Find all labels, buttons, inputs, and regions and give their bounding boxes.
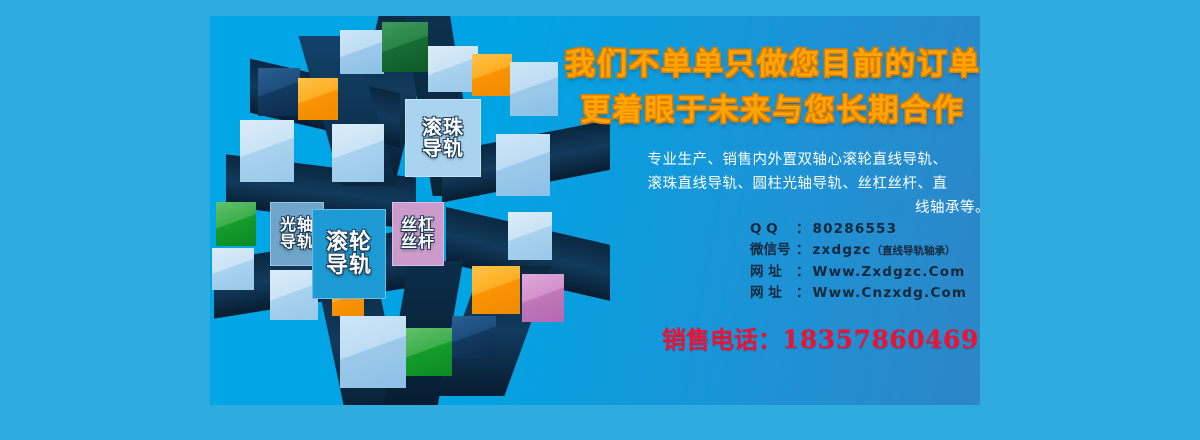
cube-green [406,328,452,376]
blurb-line-3: 线轴承等。 [605,196,980,220]
contact-value-wechat[interactable]: zxdgzc [813,240,872,261]
contact-row-qq: Q Q ： 80286553 [750,219,980,240]
sales-phone-label: 销售电话： [662,326,782,354]
contact-key: 网 址 [750,262,796,283]
contact-row-wechat: 微信号 ： zxdgzc （直线导轨轴承） [750,240,980,262]
contact-note-wechat: （直线导轨轴承） [871,241,955,262]
contact-separator: ： [796,219,810,240]
cube-glass [508,212,552,260]
cube-orange [472,54,512,96]
cube-green [216,202,256,246]
cube-glass [340,30,384,74]
product-label-line: 滚轮 [326,231,372,254]
banner-panel: 滚珠 导轨 光轴 导轨 滚轮 导轨 丝杠 丝杆 我们不单单只做您目前的订单 更着… [210,16,980,405]
headline: 我们不单单只做您目前的订单 更着眼于未来与您长期合作 [565,42,980,134]
contact-separator: ： [796,240,810,261]
product-label-sigang-sigan[interactable]: 丝杠 丝杆 [392,202,444,266]
cube-glass [496,134,550,196]
cube-green [382,22,428,72]
product-label-line: 导轨 [280,234,314,251]
cube-navy [452,316,496,358]
cube-pink [522,274,564,322]
banner-root: 滚珠 导轨 光轴 导轨 滚轮 导轨 丝杠 丝杆 我们不单单只做您目前的订单 更着… [0,0,1200,440]
product-label-line: 导轨 [422,138,464,159]
blurb-line-1: 专业生产、销售内外置双轴心滚轮直线导轨、 [605,148,980,172]
sales-phone[interactable]: 销售电话：18357860469 [662,320,980,355]
cube-glass [510,62,558,116]
cube-glass [340,316,406,388]
contact-separator: ： [796,283,810,304]
contact-value-website-2[interactable]: Www.Cnzxdg.Com [813,283,968,304]
contact-value-website-1[interactable]: Www.Zxdgzc.Com [813,262,966,283]
headline-line-1: 我们不单单只做您目前的订单 [565,42,980,88]
product-label-gunzhu-daogui[interactable]: 滚珠 导轨 [405,99,481,177]
contact-row-website-1: 网 址 ： Www.Zxdgzc.Com [750,262,980,283]
contact-value-qq[interactable]: 80286553 [813,219,898,240]
blurb-line-2: 滚珠直线导轨、圆柱光轴导轨、丝杠丝杆、直 [605,172,980,196]
cube-glass [428,46,478,92]
sales-phone-number[interactable]: 18357860469 [782,325,979,354]
description-blurb: 专业生产、销售内外置双轴心滚轮直线导轨、 滚珠直线导轨、圆柱光轴导轨、丝杠丝杆、… [605,148,980,220]
exploded-cubes-graphic: 滚珠 导轨 光轴 导轨 滚轮 导轨 丝杠 丝杆 [210,16,610,405]
cube-glass [332,124,384,182]
contact-key: 微信号 [750,240,796,261]
product-label-line: 滚珠 [422,117,464,138]
product-label-gunlun-daogui[interactable]: 滚轮 导轨 [312,209,386,299]
contact-key: 网 址 [750,283,796,304]
cube-orange [472,266,520,314]
cube-navy [258,68,300,116]
cube-glass [212,248,254,290]
cube-orange [298,78,338,120]
cube-glass [270,270,318,320]
headline-line-2: 更着眼于未来与您长期合作 [565,88,980,134]
product-label-line: 导轨 [326,254,372,277]
product-label-line: 丝杆 [401,234,435,251]
contact-block: Q Q ： 80286553 微信号 ： zxdgzc （直线导轨轴承） 网 址… [750,219,980,304]
contact-separator: ： [796,262,810,283]
cube-glass [240,120,294,182]
contact-key: Q Q [750,219,796,240]
contact-row-website-2: 网 址 ： Www.Cnzxdg.Com [750,283,980,304]
